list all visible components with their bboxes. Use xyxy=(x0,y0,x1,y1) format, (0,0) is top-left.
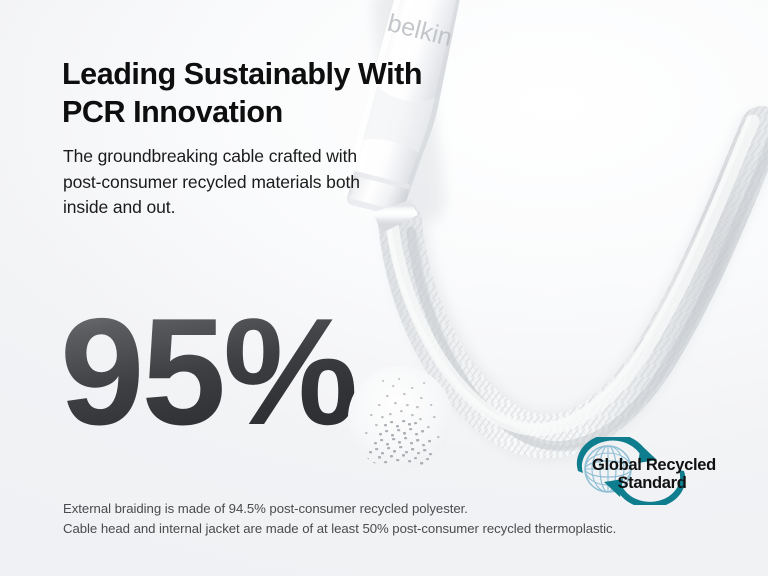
belkin-wordmark: belkin xyxy=(385,9,455,52)
footnotes: External braiding is made of 94.5% post-… xyxy=(63,499,753,539)
footnote-line-1: External braiding is made of 94.5% post-… xyxy=(63,499,753,519)
page-title: Leading Sustainably With PCR Innovation xyxy=(62,55,482,131)
grs-text-line1: Global Recycled xyxy=(592,457,722,474)
grs-text-line2: Standard xyxy=(592,474,722,492)
recycled-pellets-image xyxy=(348,366,452,470)
grs-logo-text: Global Recycled Standard xyxy=(592,457,722,492)
stat-percentage-value: 95% xyxy=(60,292,355,452)
global-recycled-standard-logo: Global Recycled Standard xyxy=(556,437,722,505)
footnote-line-2: Cable head and internal jacket are made … xyxy=(63,519,753,539)
promo-banner: belkin Leading Sustainably With PCR Inno… xyxy=(0,0,768,576)
stat-block: 95% xyxy=(56,300,476,460)
subheading-text: The groundbreaking cable crafted with po… xyxy=(63,144,423,221)
